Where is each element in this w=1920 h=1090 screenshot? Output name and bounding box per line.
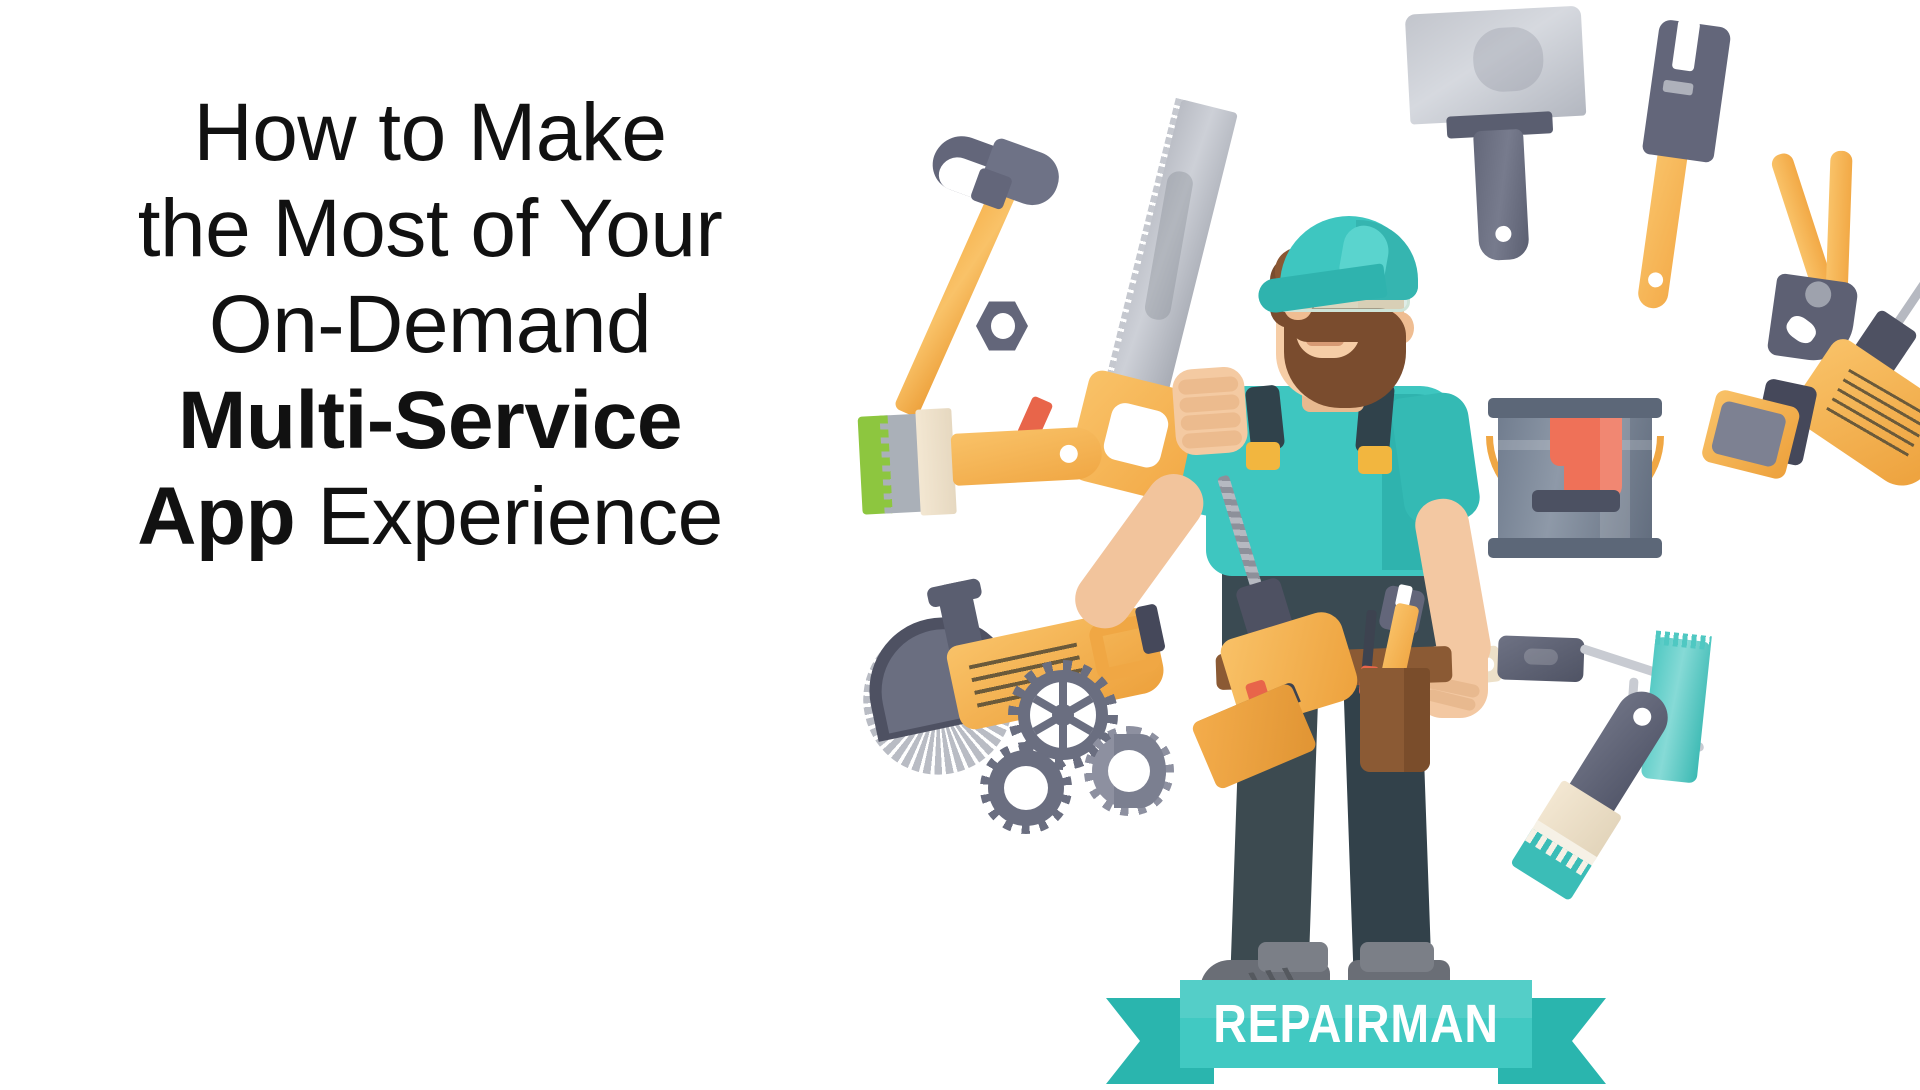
headline-pane: How to Make the Most of Your On-Demand M… (0, 0, 860, 1080)
headline-emphasis-multi-service: Multi-Service (178, 375, 682, 466)
headline-line-4: Multi-Service (137, 373, 722, 469)
ribbon-label: REPAIRMAN (1205, 980, 1508, 1068)
headline-emphasis-app: App (137, 471, 295, 562)
article-banner: How to Make the Most of Your On-Demand M… (0, 0, 1920, 1080)
repairman-character: REPAIRMAN (1096, 180, 1616, 1040)
paint-brush-green-icon (857, 393, 1123, 526)
head (1246, 216, 1432, 406)
headline-line-1: How to Make (137, 85, 722, 181)
illustration-stage: REPAIRMAN (860, 0, 1920, 1080)
hex-nut-icon (976, 300, 1028, 352)
headline-line-2: the Most of Your (137, 181, 722, 277)
repairman-ribbon: REPAIRMAN (1106, 972, 1606, 1090)
headline-line-5: App Experience (137, 469, 722, 565)
headline-line-5-rest: Experience (295, 471, 723, 562)
illustration-pane: REPAIRMAN (860, 0, 1920, 1080)
page-title: How to Make the Most of Your On-Demand M… (137, 85, 722, 565)
adjustable-wrench-icon (1600, 16, 1749, 318)
belt-pouch-shade (1404, 668, 1430, 772)
headline-line-3: On-Demand (137, 277, 722, 373)
strap-buckle-right (1358, 446, 1392, 474)
hand-left-gripping (1171, 366, 1249, 457)
